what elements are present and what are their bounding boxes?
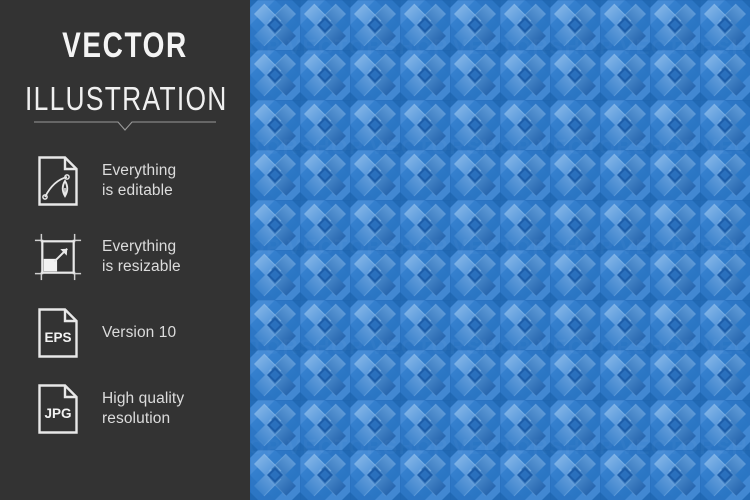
chevron-notch-divider-icon xyxy=(34,119,216,133)
feature-label: Everything is resizable xyxy=(102,237,181,277)
document-pen-tool-icon xyxy=(34,153,82,209)
page-title: VECTOR xyxy=(25,26,225,66)
pattern-artwork-panel: VECTORSHOPVECTORSHOPVECTORSHOPVECTORSHOP… xyxy=(250,0,750,500)
feature-label: Everything is editable xyxy=(102,161,176,201)
page-subtitle: ILLUSTRATION xyxy=(25,79,225,119)
feature-label: High quality resolution xyxy=(102,389,184,429)
resize-arrow-icon xyxy=(34,229,82,285)
geometric-pattern xyxy=(250,0,750,500)
title-block: VECTOR ILLUSTRATION xyxy=(0,26,250,119)
info-panel: VECTOR ILLUSTRATION Everythin xyxy=(0,0,250,500)
feature-row: EPS Version 10 xyxy=(34,302,234,364)
eps-file-icon: EPS xyxy=(34,305,82,361)
feature-label: Version 10 xyxy=(102,323,176,343)
feature-row: Everything is resizable xyxy=(34,226,234,288)
jpg-file-icon: JPG xyxy=(34,381,82,437)
eps-file-icon-label: EPS xyxy=(44,330,71,345)
jpg-file-icon-label: JPG xyxy=(44,406,71,421)
preview-canvas: VECTOR ILLUSTRATION Everythin xyxy=(0,0,750,500)
feature-row: JPG High quality resolution xyxy=(34,378,234,440)
feature-row: Everything is editable xyxy=(34,150,234,212)
